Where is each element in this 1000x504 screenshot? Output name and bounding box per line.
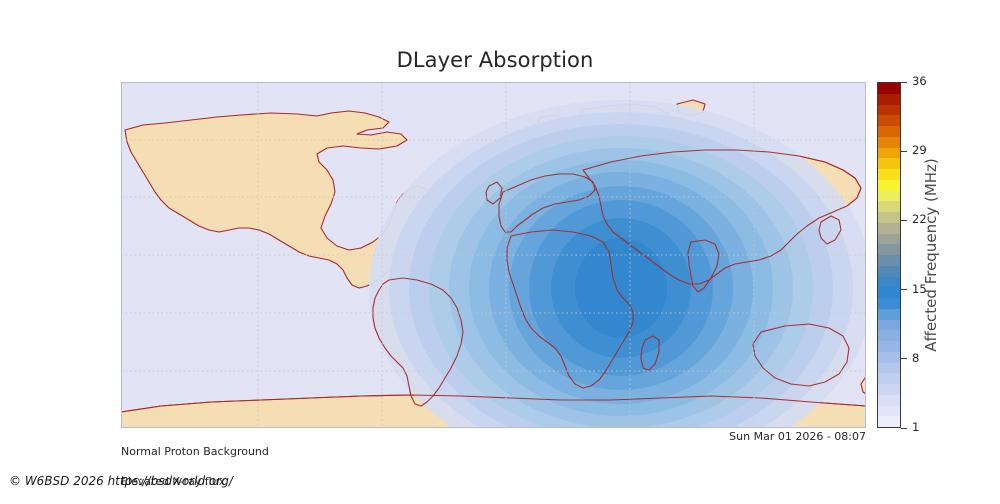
colorbar[interactable]: 1815222936 Max bbox=[877, 82, 901, 428]
colorbar-band-12 bbox=[878, 287, 900, 298]
tick-dash bbox=[901, 428, 907, 429]
colorbar-band-25 bbox=[878, 148, 900, 159]
colorbar-band-21 bbox=[878, 191, 900, 202]
status-line-proton: Normal Proton Background bbox=[121, 444, 269, 459]
colorbar-band-15 bbox=[878, 255, 900, 266]
colorbar-band-20 bbox=[878, 201, 900, 212]
colorbar-band-6 bbox=[878, 352, 900, 363]
map-panel[interactable] bbox=[121, 82, 866, 428]
tick-dash bbox=[901, 358, 907, 359]
colorbar-band-4 bbox=[878, 373, 900, 384]
colorbar-band-28 bbox=[878, 115, 900, 126]
colorbar-band-30 bbox=[878, 94, 900, 105]
colorbar-band-26 bbox=[878, 137, 900, 148]
contour-level-11 bbox=[575, 238, 667, 338]
colorbar-axis-label-text: Affected Frequency (MHz) bbox=[922, 158, 940, 352]
colorbar-gradient bbox=[877, 82, 901, 428]
colorbar-band-13 bbox=[878, 277, 900, 288]
colorbar-band-18 bbox=[878, 223, 900, 234]
colorbar-band-3 bbox=[878, 384, 900, 395]
colorbar-band-9 bbox=[878, 320, 900, 331]
colorbar-band-17 bbox=[878, 234, 900, 245]
colorbar-band-22 bbox=[878, 180, 900, 191]
colorbar-band-11 bbox=[878, 298, 900, 309]
colorbar-band-0 bbox=[878, 416, 900, 427]
colorbar-band-27 bbox=[878, 126, 900, 137]
colorbar-band-23 bbox=[878, 169, 900, 180]
tick-dash bbox=[901, 220, 907, 221]
colorbar-axis-label: Affected Frequency (MHz) bbox=[919, 82, 943, 428]
colorbar-band-7 bbox=[878, 341, 900, 352]
colorbar-band-31 bbox=[878, 83, 900, 94]
world-map-svg bbox=[121, 82, 866, 428]
copyright-footer: © W6BSD 2026 https://bsdworld.org/ bbox=[9, 474, 233, 488]
colorbar-band-8 bbox=[878, 330, 900, 341]
colorbar-band-10 bbox=[878, 309, 900, 320]
colorbar-band-2 bbox=[878, 395, 900, 406]
tick-dash bbox=[901, 151, 907, 152]
colorbar-band-16 bbox=[878, 244, 900, 255]
timestamp-label: Sun Mar 01 2026 - 08:07 bbox=[566, 429, 866, 444]
colorbar-band-14 bbox=[878, 266, 900, 277]
colorbar-band-5 bbox=[878, 363, 900, 374]
page-title: DLayer Absorption bbox=[0, 48, 990, 72]
colorbar-band-24 bbox=[878, 158, 900, 169]
tick-dash bbox=[901, 289, 907, 290]
status-caption: Normal Proton Background Elevated X-ray … bbox=[121, 429, 269, 504]
tick-dash bbox=[901, 82, 907, 83]
colorbar-band-1 bbox=[878, 406, 900, 417]
colorbar-band-29 bbox=[878, 105, 900, 116]
colorbar-band-19 bbox=[878, 212, 900, 223]
